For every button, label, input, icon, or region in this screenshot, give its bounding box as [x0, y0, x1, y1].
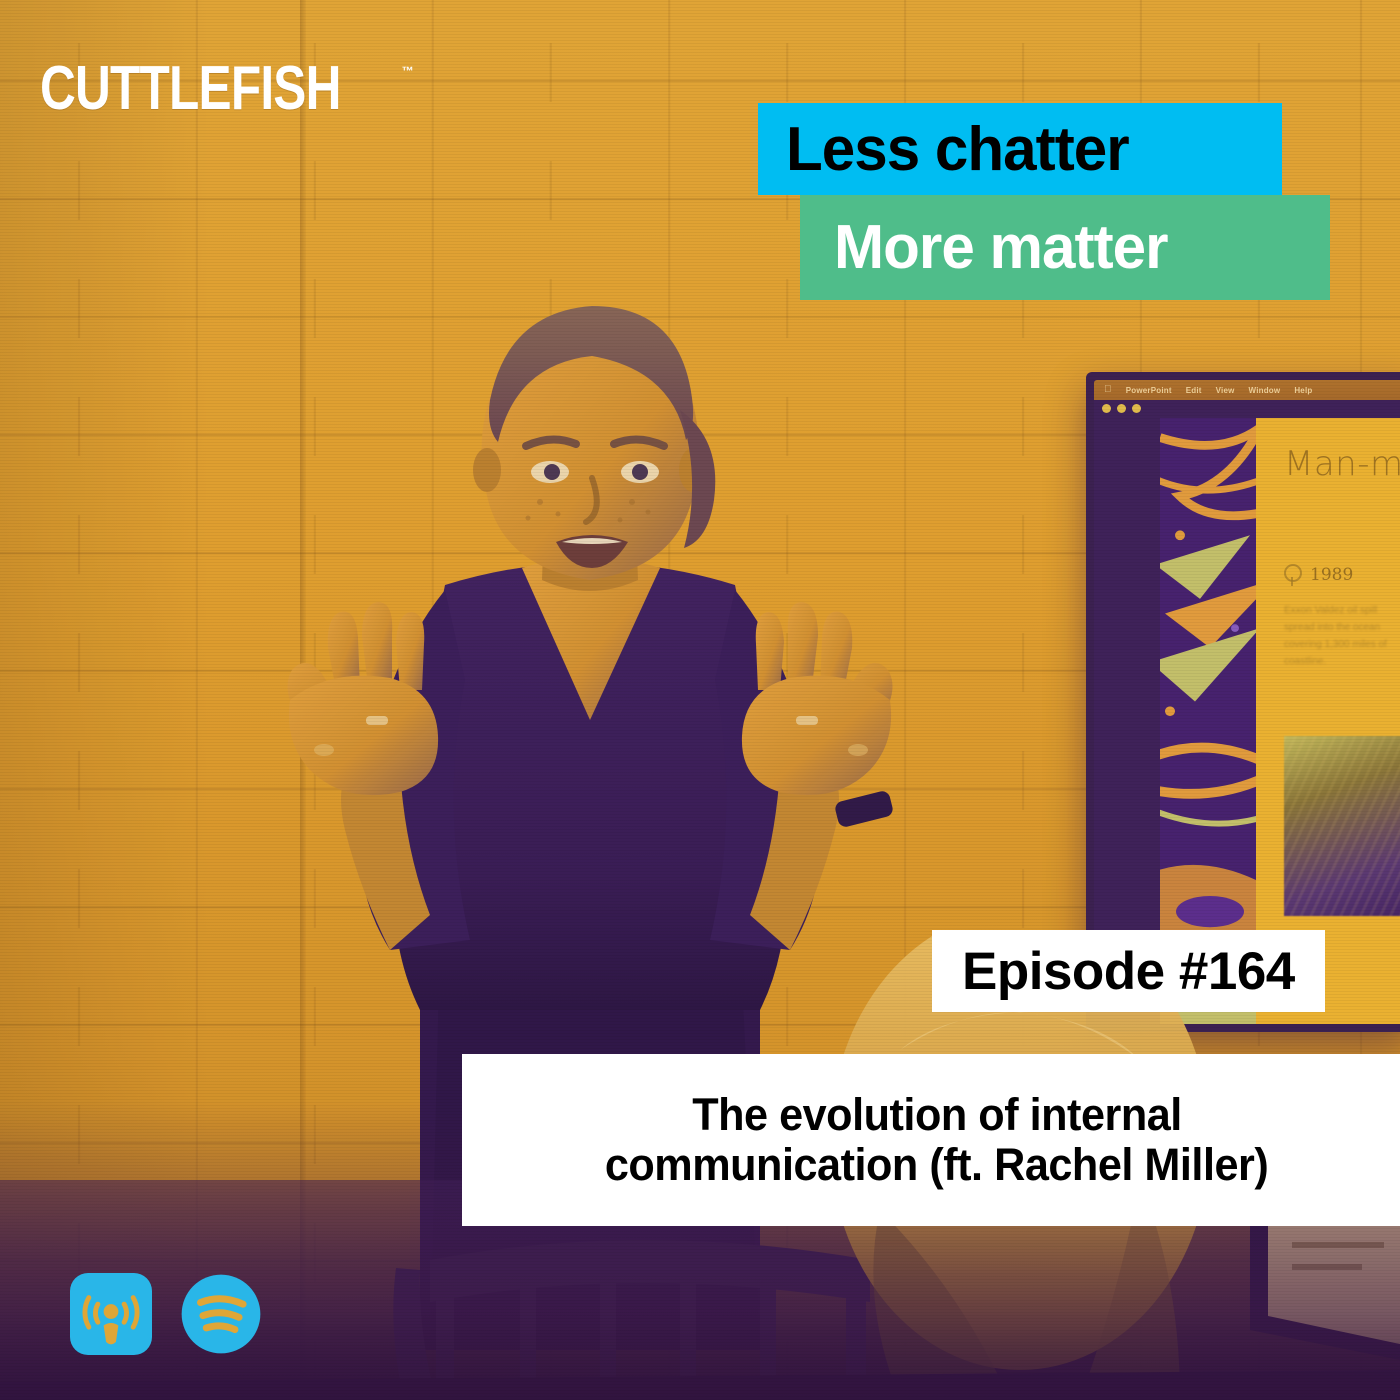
location-pin-icon — [1284, 564, 1302, 586]
monitor-bezel:  PowerPoint Edit View Window Help — [1094, 380, 1400, 1024]
window-traffic-lights[interactable] — [1102, 404, 1141, 413]
slide-body-text: Exxon Valdez oil spill spread into the o… — [1284, 602, 1400, 670]
brand-logo: CUTTLEFISH ™ — [40, 60, 414, 117]
macos-menubar:  PowerPoint Edit View Window Help — [1094, 380, 1400, 400]
episode-title-box: The evolution of internal communication … — [462, 1054, 1400, 1226]
spotify-icon[interactable] — [180, 1273, 262, 1355]
maximize-icon[interactable] — [1132, 404, 1141, 413]
apple-podcasts-icon[interactable] — [70, 1273, 152, 1355]
apple-logo-icon:  — [1104, 385, 1112, 395]
slide-body-line: covering 1,300 miles of — [1284, 636, 1400, 653]
slide-body-line: coastline. — [1284, 653, 1400, 670]
episode-number-text: Episode #164 — [962, 941, 1295, 1002]
close-icon[interactable] — [1102, 404, 1111, 413]
episode-title-line1: The evolution of internal — [692, 1090, 1182, 1140]
menu-item-powerpoint[interactable]: PowerPoint — [1126, 386, 1172, 395]
menu-item-help[interactable]: Help — [1294, 386, 1312, 395]
tagline-line1-block: Less chatter — [758, 103, 1282, 195]
slide-heading: Man-ma — [1284, 444, 1400, 484]
minimize-icon[interactable] — [1117, 404, 1126, 413]
brand-name: CUTTLEFISH — [40, 60, 341, 117]
menu-item-window[interactable]: Window — [1249, 386, 1281, 395]
slide-body-line: spread into the ocean — [1284, 619, 1400, 636]
slide-year-value: 1989 — [1310, 565, 1353, 585]
tagline-line2-block: More matter — [800, 195, 1330, 300]
tagline-line2-text: More matter — [834, 212, 1168, 283]
slide-year-row: 1989 — [1284, 564, 1400, 586]
episode-title-line2: communication (ft. Rachel Miller) — [605, 1140, 1268, 1190]
menu-item-view[interactable]: View — [1216, 386, 1235, 395]
trademark-symbol: ™ — [402, 64, 414, 78]
slide-body-line: Exxon Valdez oil spill — [1284, 602, 1400, 619]
menu-item-edit[interactable]: Edit — [1186, 386, 1202, 395]
platform-links — [70, 1273, 262, 1355]
slide-image — [1284, 736, 1400, 916]
tagline-line1-text: Less chatter — [786, 114, 1129, 185]
podcast-cover-art:  PowerPoint Edit View Window Help — [0, 0, 1400, 1400]
episode-badge: Episode #164 — [932, 930, 1325, 1012]
